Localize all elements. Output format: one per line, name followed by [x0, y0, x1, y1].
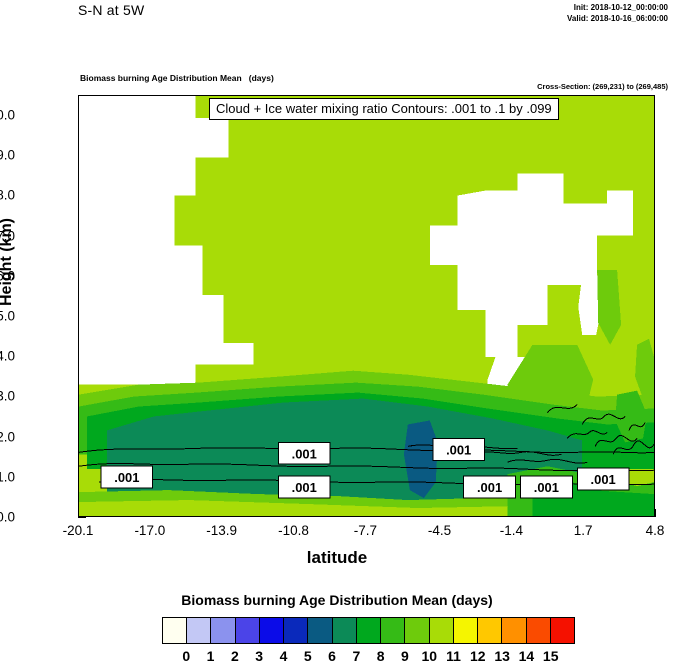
y-tick-label: 2.0: [0, 429, 15, 444]
y-tick-label: 8.0: [0, 188, 15, 203]
model-timestamps: Init: 2018-10-12_00:00:00 Valid: 2018-10…: [567, 2, 668, 24]
init-time: Init: 2018-10-12_00:00:00: [567, 2, 668, 13]
colorbar-tick-label: 13: [494, 648, 510, 664]
x-tick-label: -1.4: [500, 523, 523, 538]
colorbar-tick-label: 5: [304, 648, 312, 664]
colorbar-swatch: [478, 618, 502, 643]
colorbar-tick-label: 15: [543, 648, 559, 664]
colorbar-tick-label: 7: [352, 648, 360, 664]
svg-text:.001: .001: [534, 480, 559, 495]
x-tick-label: -17.0: [134, 523, 165, 538]
svg-text:.001: .001: [292, 480, 317, 495]
x-tick-label: 1.7: [574, 523, 593, 538]
page-title: S-N at 5W: [78, 2, 144, 18]
colorbar-tick-label: 8: [377, 648, 385, 664]
x-axis-label: latitude: [0, 548, 674, 568]
contour-title-box: Cloud + Ice water mixing ratio Contours:…: [209, 98, 559, 120]
colorbar-swatch: [527, 618, 551, 643]
x-tick-label: -20.1: [63, 523, 94, 538]
colorbar-tick-label: 2: [231, 648, 239, 664]
colorbar-swatch: [260, 618, 284, 643]
y-tick-label: 3.0: [0, 389, 15, 404]
svg-text:.001: .001: [446, 442, 471, 457]
colorbar-ticks: 0123456789101112131415: [162, 648, 575, 666]
colorbar-tick-label: 6: [328, 648, 336, 664]
x-tick-label: -4.5: [428, 523, 451, 538]
y-tick-label: 4.0: [0, 349, 15, 364]
x-tick-label: -13.9: [206, 523, 237, 538]
y-tick-label: 6.0: [0, 268, 15, 283]
colorbar-swatch: [430, 618, 454, 643]
colorbar-tick-label: 10: [421, 648, 437, 664]
colorbar-swatch: [187, 618, 211, 643]
colorbar-swatch: [381, 618, 405, 643]
colorbar-swatch: [333, 618, 357, 643]
valid-time: Valid: 2018-10-16_06:00:00: [567, 13, 668, 24]
svg-text:.001: .001: [292, 446, 317, 461]
svg-text:.001: .001: [477, 480, 502, 495]
colorbar-swatch: [284, 618, 308, 643]
colorbar-swatch: [308, 618, 332, 643]
y-tick-label: 1.0: [0, 469, 15, 484]
contour-field: .001 .001 .001 .001 .001 .001 .001: [79, 96, 654, 516]
y-tick-mark: [78, 517, 86, 518]
svg-text:.001: .001: [591, 472, 616, 487]
plot-area: .001 .001 .001 .001 .001 .001 .001 Cloud…: [78, 95, 655, 517]
x-tick-label: -7.7: [354, 523, 377, 538]
colorbar-title: Biomass burning Age Distribution Mean (d…: [0, 592, 674, 608]
svg-text:.001: .001: [114, 470, 139, 485]
x-tick-label: 4.8: [646, 523, 665, 538]
colorbar-swatch: [551, 618, 574, 643]
colorbar-tick-label: 12: [470, 648, 486, 664]
y-tick-label: 5.0: [0, 309, 15, 324]
annotation-line-1: Biomass burning Age Distribution Mean (d…: [80, 73, 274, 85]
colorbar-tick-label: 0: [182, 648, 190, 664]
colorbar-tick-label: 1: [207, 648, 215, 664]
y-tick-label: 7.0: [0, 228, 15, 243]
colorbar-swatch: [502, 618, 526, 643]
colorbar: [162, 617, 575, 644]
colorbar-swatch: [454, 618, 478, 643]
colorbar-swatch: [211, 618, 235, 643]
colorbar-tick-label: 14: [519, 648, 535, 664]
colorbar-swatch: [405, 618, 429, 643]
colorbar-tick-label: 11: [446, 648, 461, 664]
y-tick-label: 0.0: [0, 510, 15, 525]
colorbar-swatch: [357, 618, 381, 643]
colorbar-swatch: [236, 618, 260, 643]
y-tick-label: 10.0: [0, 108, 15, 123]
colorbar-tick-label: 3: [255, 648, 263, 664]
colorbar-tick-label: 9: [401, 648, 409, 664]
colorbar-tick-label: 4: [280, 648, 288, 664]
x-tick-label: -10.8: [278, 523, 309, 538]
colorbar-swatch: [163, 618, 187, 643]
cross-section-coords: Cross-Section: (269,231) to (269,485): [537, 82, 668, 91]
y-tick-label: 9.0: [0, 148, 15, 163]
x-tick-mark: [655, 509, 656, 517]
